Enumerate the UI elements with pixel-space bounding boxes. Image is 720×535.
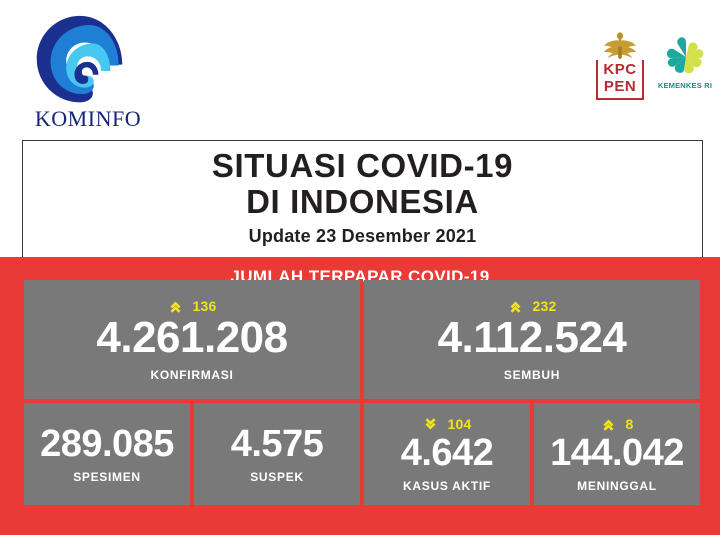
kemenkes-flower-icon — [665, 36, 707, 78]
footer-red-bar — [0, 505, 720, 535]
delta-value-sembuh: 232 — [533, 299, 557, 313]
stats-grid: 136 4.261.208 KONFIRMASI 232 4.112.524 S… — [24, 280, 700, 505]
stat-card-kasus-aktif: 104 4.642 KASUS AKTIF — [364, 403, 530, 505]
kominfo-wordmark: KOMINFO — [18, 106, 158, 132]
delta-value-kasus-aktif: 104 — [448, 417, 472, 431]
stat-value-meninggal: 144.042 — [550, 434, 684, 472]
title-line-1: SITUASI COVID-19 — [22, 148, 703, 184]
stat-label-konfirmasi: KONFIRMASI — [151, 368, 234, 382]
stats-row-bottom: 289.085 SPESIMEN 4.575 SUSPEK 104 4.642 … — [24, 403, 700, 505]
stat-value-spesimen: 289.085 — [40, 425, 174, 463]
delta-value-meninggal: 8 — [626, 417, 634, 431]
stats-row-top: 136 4.261.208 KONFIRMASI 232 4.112.524 S… — [24, 280, 700, 399]
delta-kasus-aktif: 104 — [423, 415, 472, 433]
stat-value-kasus-aktif: 4.642 — [401, 434, 494, 472]
stat-label-kasus-aktif: KASUS AKTIF — [403, 479, 491, 493]
stat-label-sembuh: SEMBUH — [504, 368, 560, 382]
stat-card-konfirmasi: 136 4.261.208 KONFIRMASI — [24, 280, 360, 399]
kominfo-logo: KOMINFO — [18, 14, 158, 132]
update-date: Update 23 Desember 2021 — [22, 226, 703, 247]
stat-label-meninggal: MENINGGAL — [577, 479, 657, 493]
kominfo-wave-icon — [34, 14, 126, 106]
kemenkes-logo: KEMENKES RI — [656, 36, 714, 100]
title-line-2: DI INDONESIA — [22, 184, 703, 220]
kpcpen-wordmark: KPC PEN — [596, 61, 644, 95]
stat-card-spesimen: 289.085 SPESIMEN — [24, 403, 190, 505]
covid-situation-infographic: KOMINFO KPC PEN — [0, 0, 720, 535]
chevron-double-down-icon — [423, 417, 438, 432]
page-title: SITUASI COVID-19 DI INDONESIA Update 23 … — [22, 142, 703, 254]
chevron-double-up-icon — [508, 299, 523, 314]
chevron-double-up-icon — [168, 299, 183, 314]
delta-value-konfirmasi: 136 — [193, 299, 217, 313]
stat-value-sembuh: 4.112.524 — [438, 316, 627, 360]
stat-value-suspek: 4.575 — [231, 425, 324, 463]
kpcpen-logo: KPC PEN — [592, 30, 648, 102]
delta-meninggal: 8 — [601, 415, 634, 433]
kpcpen-line-2: PEN — [604, 78, 636, 95]
header-logos: KOMINFO KPC PEN — [0, 0, 720, 140]
kpcpen-line-1: KPC — [603, 61, 636, 78]
stat-label-suspek: SUSPEK — [250, 470, 304, 484]
chevron-double-up-icon — [601, 417, 616, 432]
garuda-eagle-icon — [602, 30, 638, 60]
stat-label-spesimen: SPESIMEN — [73, 470, 141, 484]
stat-value-konfirmasi: 4.261.208 — [96, 316, 287, 360]
stat-card-sembuh: 232 4.112.524 SEMBUH — [364, 280, 700, 399]
stat-card-meninggal: 8 144.042 MENINGGAL — [534, 403, 700, 505]
kemenkes-wordmark: KEMENKES RI — [653, 81, 717, 90]
stat-card-suspek: 4.575 SUSPEK — [194, 403, 360, 505]
